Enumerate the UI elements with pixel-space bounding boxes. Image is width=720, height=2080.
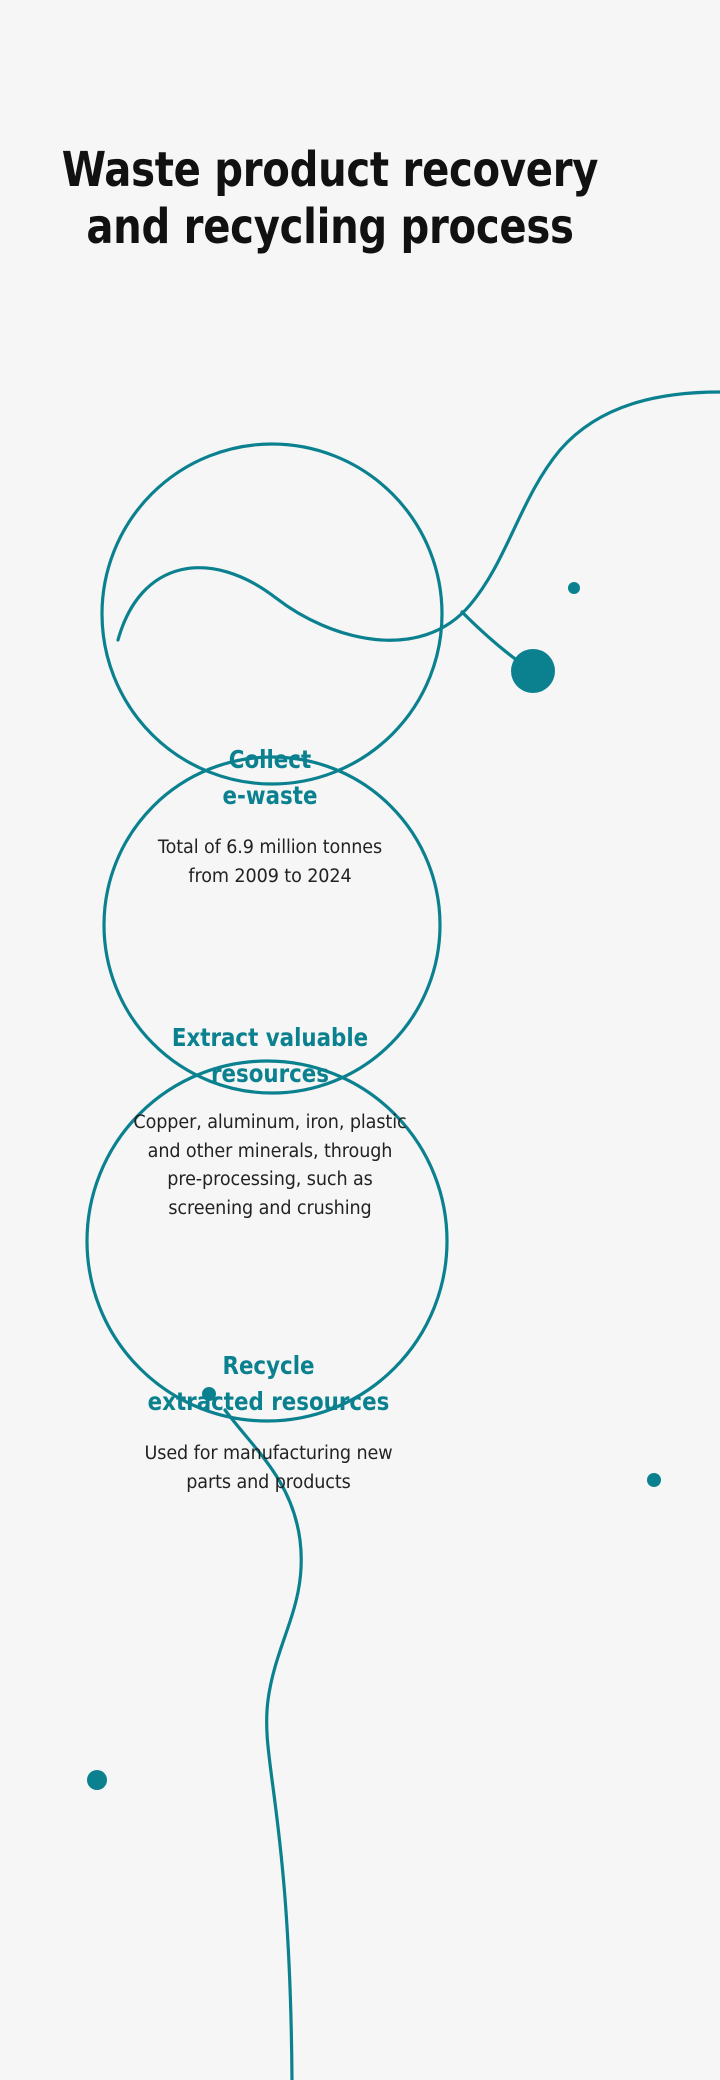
step-2-content: Extract valuable resources Copper, alumi…: [100, 1020, 440, 1223]
step-1-heading-line-1: Collect: [118, 742, 422, 778]
step-2-heading-line-1: Extract valuable: [109, 1020, 432, 1056]
infographic-canvas: Waste product recovery and recycling pro…: [0, 0, 720, 2080]
step-2-body-line-1: Copper, aluminum, iron, plastic: [109, 1109, 432, 1138]
page-title-line-1: Waste product recovery: [23, 142, 637, 199]
accent-dot-large: [511, 649, 555, 693]
accent-dot-bottom-left: [87, 1770, 107, 1790]
step-2-body-line-4: screening and crushing: [109, 1195, 432, 1224]
flow-curve-top: [118, 392, 720, 640]
step-3-content: Recycle extracted resources Used for man…: [96, 1348, 441, 1497]
step-2-body-line-3: pre-processing, such as: [109, 1166, 432, 1195]
step-3-body-line-2: parts and products: [105, 1469, 433, 1498]
step-1-body-line-2: from 2009 to 2024: [118, 863, 422, 892]
accent-dot-mid-right: [647, 1473, 661, 1487]
spacer: [110, 814, 430, 834]
page-title: Waste product recovery and recycling pro…: [0, 142, 720, 256]
step-1-heading-line-2: e-waste: [118, 778, 422, 814]
page-title-line-2: and recycling process: [23, 199, 637, 256]
step-2-body-line-2: and other minerals, through: [109, 1138, 432, 1167]
spacer: [96, 1420, 441, 1440]
spacer: [100, 1092, 440, 1109]
accent-dot-top-right: [568, 582, 580, 594]
step-1-content: Collect e-waste Total of 6.9 million ton…: [110, 742, 430, 891]
step-3-heading-line-2: extracted resources: [105, 1384, 433, 1420]
flow-curve-stub: [462, 612, 528, 668]
step-1-body-line-1: Total of 6.9 million tonnes: [118, 834, 422, 863]
step-3-heading-line-1: Recycle: [105, 1348, 433, 1384]
step-3-body-line-1: Used for manufacturing new: [105, 1440, 433, 1469]
step-2-heading-line-2: resources: [109, 1056, 432, 1092]
flow-curve-bottom: [225, 1410, 301, 2080]
step-circle-1: [102, 444, 442, 784]
